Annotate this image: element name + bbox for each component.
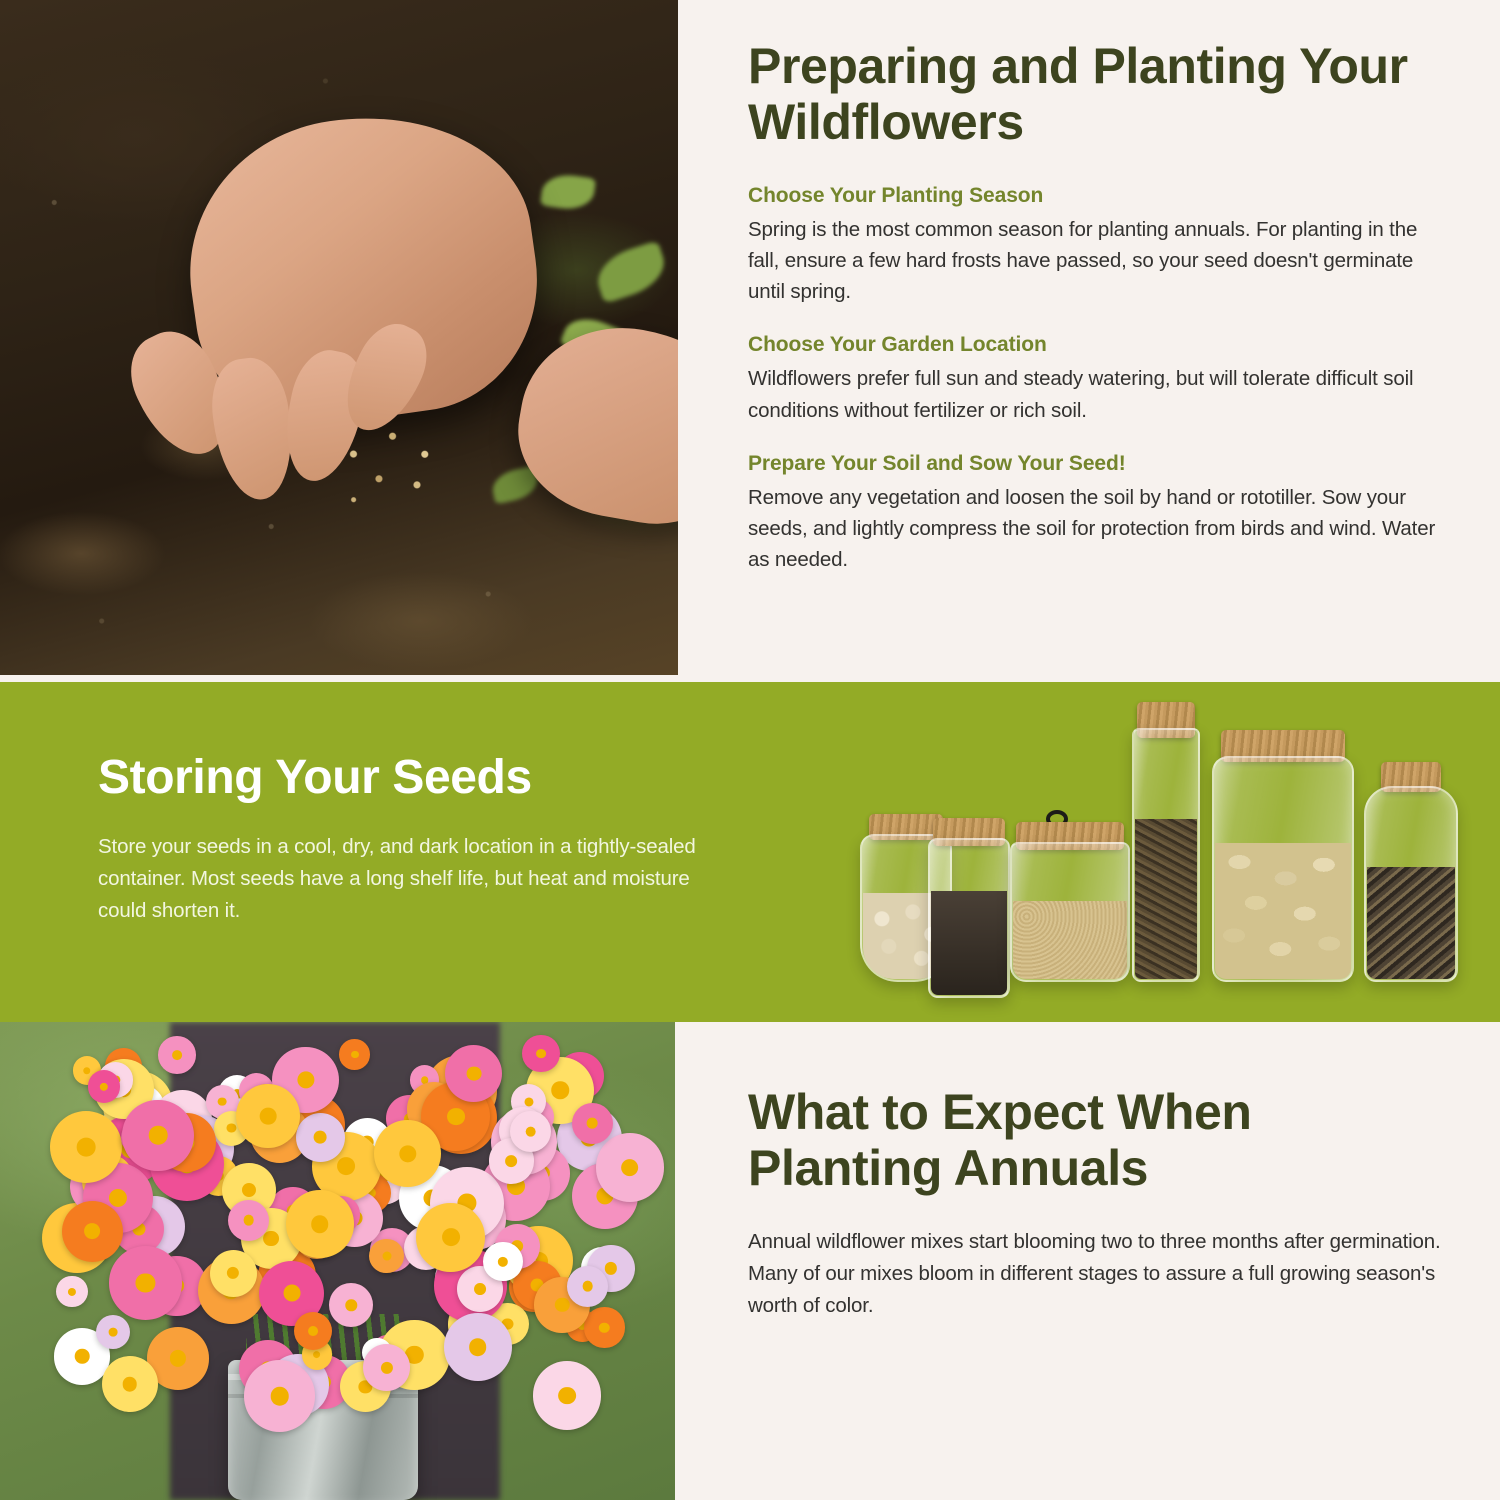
page-title: Preparing and Planting Your Wildflowers — [748, 38, 1453, 150]
flower-bloom — [533, 1361, 601, 1429]
paragraph-planting-season: Spring is the most common season for pla… — [748, 214, 1453, 307]
paragraph-garden-location: Wildflowers prefer full sun and steady w… — [748, 363, 1453, 425]
seed-jar-pumpkin-seeds — [1212, 756, 1354, 982]
subheading-planting-season: Choose Your Planting Season — [748, 184, 1453, 208]
flower-bloom — [88, 1070, 120, 1102]
section-preparing-and-planting: Preparing and Planting Your Wildflowers … — [0, 0, 1500, 682]
flower-bloom — [567, 1266, 608, 1307]
flower-bloom — [244, 1360, 315, 1431]
flower-bloom — [444, 1313, 512, 1381]
flower-bloom — [210, 1250, 257, 1297]
seed-jar-sunflower-seeds — [1364, 786, 1458, 982]
flower-bloom — [572, 1103, 613, 1144]
flower-bloom — [228, 1200, 269, 1241]
what-to-expect-paragraph: Annual wildflower mixes start blooming t… — [748, 1226, 1448, 1321]
seed-jar-tall-tube — [1132, 728, 1200, 982]
paragraph-prepare-soil: Remove any vegetation and loosen the soi… — [748, 482, 1453, 575]
flower-bloom — [584, 1307, 624, 1347]
copy-block: Choose Your Garden Location Wildflowers … — [748, 333, 1453, 425]
flower-bloom — [62, 1201, 123, 1262]
hand-sowing-seeds-photo — [0, 0, 678, 675]
flower-bloom — [363, 1344, 410, 1391]
what-to-expect-title: What to Expect When Planting Annuals — [748, 1084, 1448, 1196]
flower-bloom — [339, 1039, 370, 1070]
section1-copy: Preparing and Planting Your Wildflowers … — [748, 38, 1453, 575]
flower-bloom — [286, 1190, 354, 1258]
flower-bloom — [445, 1045, 502, 1102]
seed-fill — [1135, 819, 1197, 979]
copy-block: Prepare Your Soil and Sow Your Seed! Rem… — [748, 452, 1453, 575]
seed-jar-tan-seed — [1010, 842, 1130, 982]
flower-bloom — [158, 1036, 196, 1074]
flower-bloom — [369, 1239, 403, 1273]
flower-bloom — [416, 1203, 485, 1272]
subheading-garden-location: Choose Your Garden Location — [748, 333, 1453, 357]
copy-block: Choose Your Planting Season Spring is th… — [748, 184, 1453, 307]
storing-seeds-paragraph: Store your seeds in a cool, dry, and dar… — [98, 831, 738, 926]
flower-bloom — [483, 1242, 523, 1282]
section-what-to-expect: What to Expect When Planting Annuals Ann… — [0, 1022, 1500, 1500]
flower-bloom — [50, 1111, 122, 1183]
seed-jars-photo — [850, 700, 1470, 1000]
subheading-prepare-soil: Prepare Your Soil and Sow Your Seed! — [748, 452, 1453, 476]
infographic-page: Preparing and Planting Your Wildflowers … — [0, 0, 1500, 1500]
flower-bloom — [56, 1276, 87, 1307]
section2-copy: Storing Your Seeds Store your seeds in a… — [98, 750, 738, 926]
storing-seeds-title: Storing Your Seeds — [98, 750, 738, 805]
seed-fill — [1215, 843, 1351, 979]
flower-bloom — [102, 1356, 158, 1412]
seed-fill — [1367, 867, 1455, 979]
flower-bloom — [294, 1312, 332, 1350]
flower-bloom — [236, 1084, 300, 1148]
flower-bloom — [122, 1100, 193, 1171]
flower-bloom — [296, 1113, 345, 1162]
seed-jar-black-seed — [928, 838, 1010, 998]
flower-bloom — [596, 1133, 664, 1201]
flower-bloom — [109, 1246, 183, 1320]
flower-bloom — [374, 1120, 441, 1187]
seed-fill — [931, 891, 1007, 995]
seed-fill — [1013, 901, 1127, 979]
flower-bucket-photo — [0, 1022, 675, 1500]
section3-copy: What to Expect When Planting Annuals Ann… — [748, 1084, 1448, 1321]
section-storing-your-seeds: Storing Your Seeds Store your seeds in a… — [0, 682, 1500, 1022]
